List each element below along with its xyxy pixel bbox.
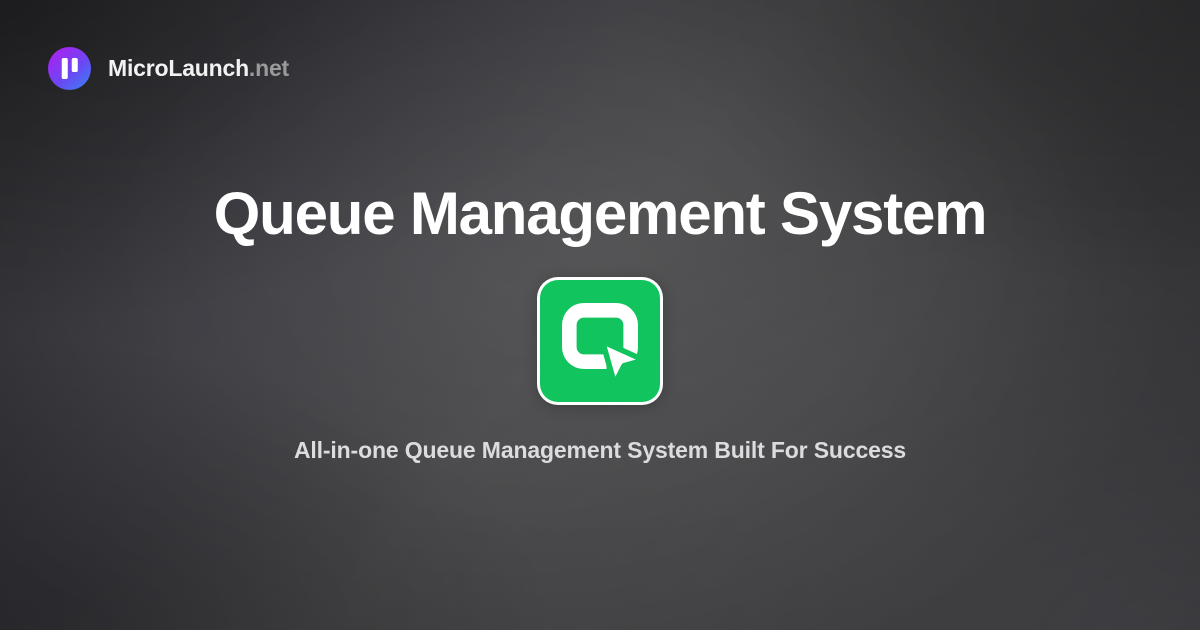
brand-header[interactable]: MicroLaunch.net	[48, 47, 289, 90]
brand-name-tld: .net	[249, 55, 289, 81]
brand-wordmark: MicroLaunch.net	[108, 55, 289, 82]
product-title: Queue Management System	[214, 182, 987, 246]
app-icon-frame	[537, 277, 663, 405]
product-tagline: All-in-one Queue Management System Built…	[294, 437, 906, 464]
card-content: Queue Management System All-in-one Queue…	[0, 0, 1200, 630]
brand-name-primary: MicroLaunch	[108, 55, 249, 81]
logo-bar-left	[61, 58, 68, 79]
logo-bars	[61, 58, 78, 79]
microlaunch-logo-icon	[48, 47, 91, 90]
queue-cursor-app-icon	[540, 280, 660, 402]
og-share-card: MicroLaunch.net Queue Management System …	[0, 0, 1200, 630]
logo-bar-right	[71, 58, 78, 72]
